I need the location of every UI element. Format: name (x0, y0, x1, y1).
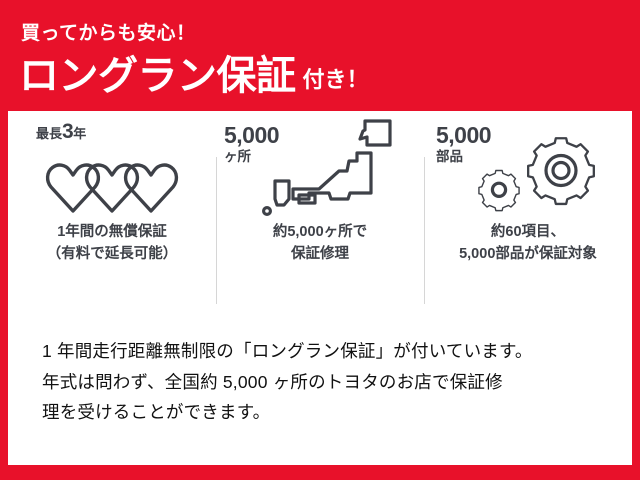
header-title-main: ロングラン保証 (19, 55, 296, 97)
stat-service-locations: 5,000 ヶ所 (224, 124, 279, 164)
japan-map-icon: 5,000 ヶ所 (216, 111, 424, 221)
stat-number: 3 (62, 120, 73, 143)
stat-number: 5,000 (224, 124, 279, 147)
caption-line-1: 1年間の無償保証 (47, 221, 178, 243)
three-hearts-icon: 最長3年 (8, 111, 216, 221)
stat-unit: 部品 (436, 150, 491, 164)
stat-prefix: 最長 (36, 126, 62, 141)
stat-covered-parts: 5,000 部品 (436, 124, 491, 164)
feature-row: 最長3年 1年間の無償保証 （有料で延長可能） (8, 111, 632, 320)
feature-caption: 1年間の無償保証 （有料で延長可能） (47, 221, 178, 266)
paragraph-line-1: 1 年間走行距離無制限の「ロングラン保証」が付いています。 (42, 336, 608, 367)
paragraph-line-3: 理を受けることができます。 (42, 397, 608, 428)
feature-covered-parts: 5,000 部品 (424, 111, 632, 320)
bottom-red-band (0, 465, 640, 480)
caption-line-2: （有料で延長可能） (47, 243, 178, 265)
stat-number: 5,000 (436, 124, 491, 147)
header-title: ロングラン保証 付き！ (19, 55, 369, 97)
longrun-warranty-banner: 買ってからも安心！ ロングラン保証 付き！ 最長3年 (0, 0, 640, 480)
stat-warranty-term: 最長3年 (36, 121, 86, 142)
header-subtitle: 買ってからも安心！ (21, 24, 196, 43)
content-card: 最長3年 1年間の無償保証 （有料で延長可能） (8, 111, 632, 465)
caption-line-1: 約60項目、 (459, 221, 597, 243)
header-title-suffix: 付き！ (303, 62, 369, 94)
stat-unit: 年 (73, 126, 86, 141)
feature-caption: 約60項目、 5,000部品が保証対象 (459, 221, 597, 266)
feature-service-locations: 5,000 ヶ所 (216, 111, 424, 320)
description-paragraph: 1 年間走行距離無制限の「ロングラン保証」が付いています。 年式は問わず、全国約… (42, 336, 608, 428)
two-gears-icon: 5,000 部品 (424, 111, 632, 221)
feature-caption: 約5,000ヶ所で 保証修理 (273, 221, 367, 266)
stat-unit: ヶ所 (224, 150, 279, 164)
paragraph-line-2: 年式は問わず、全国約 5,000 ヶ所のトヨタのお店で保証修 (42, 367, 608, 398)
caption-line-1: 約5,000ヶ所で (273, 221, 367, 243)
banner-header: 買ってからも安心！ ロングラン保証 付き！ (0, 0, 640, 111)
feature-warranty-term: 最長3年 1年間の無償保証 （有料で延長可能） (8, 111, 216, 320)
caption-line-2: 5,000部品が保証対象 (459, 243, 597, 265)
caption-line-2: 保証修理 (273, 243, 367, 265)
